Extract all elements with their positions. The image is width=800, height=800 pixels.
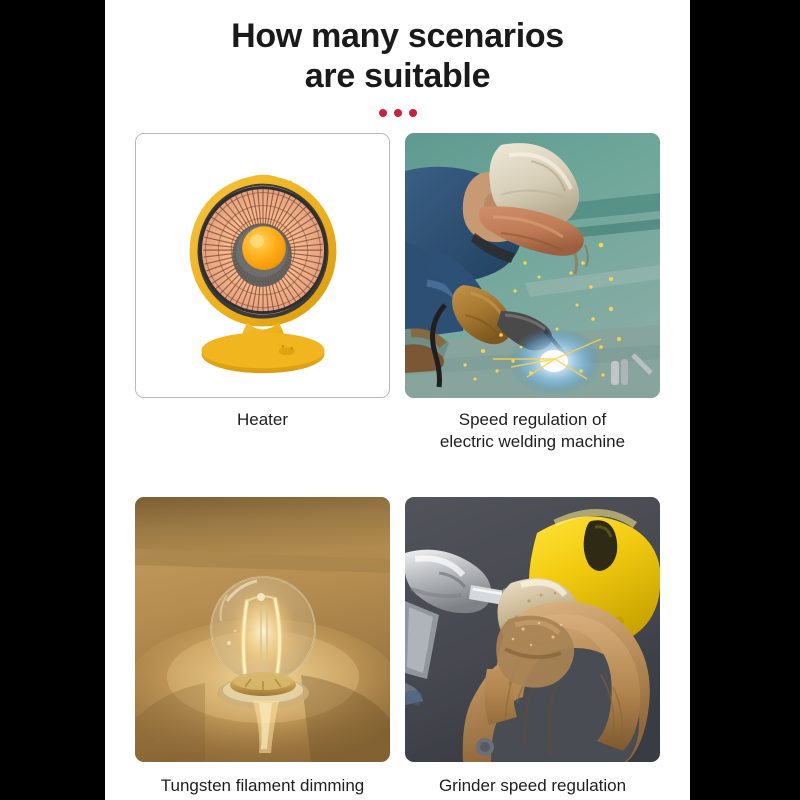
caption-line-1: Tungsten filament dimming — [135, 775, 390, 797]
scenario-caption-heater: Heater — [135, 398, 390, 444]
electric-welding-photo — [405, 133, 660, 398]
scenario-image-card-grinder[interactable] — [405, 497, 660, 762]
scenario-cell-welding[interactable]: Speed regulation of electric welding mac… — [405, 133, 660, 455]
separator-dot — [394, 109, 402, 117]
tungsten-filament-bulb-photo — [135, 497, 390, 762]
scenario-image-card-heater[interactable] — [135, 133, 390, 398]
page-title-line-2: are suitable — [163, 56, 633, 96]
grinder-speed-photo — [405, 497, 660, 762]
halogen-heater-photo — [136, 134, 389, 397]
scenario-caption-welding: Speed regulation of electric welding mac… — [405, 398, 660, 455]
scenario-caption-bulb: Tungsten filament dimming — [135, 762, 390, 800]
content-panel: How many scenarios are suitable — [105, 0, 690, 800]
separator-dot — [379, 109, 387, 117]
caption-line-1: Speed regulation of — [405, 409, 660, 431]
page-title-line-1: How many scenarios — [163, 16, 633, 56]
caption-line-1: Grinder speed regulation — [405, 775, 660, 797]
separator-dots — [105, 109, 690, 117]
scenario-grid-row-2: Tungsten filament dimming — [105, 471, 690, 800]
scenario-image-card-bulb[interactable] — [135, 497, 390, 762]
scenario-cell-heater[interactable]: Heater — [135, 133, 390, 455]
page-title: How many scenarios are suitable — [163, 16, 633, 96]
scenario-image-card-welding[interactable] — [405, 133, 660, 398]
caption-line-2: electric welding machine — [405, 431, 660, 453]
scenario-cell-bulb[interactable]: Tungsten filament dimming — [135, 497, 390, 800]
scenario-grid-row-1: Heater — [105, 133, 690, 455]
scenario-caption-grinder: Grinder speed regulation — [405, 762, 660, 800]
caption-line-1: Heater — [135, 409, 390, 431]
scenario-cell-grinder[interactable]: Grinder speed regulation — [405, 497, 660, 800]
separator-dot — [409, 109, 417, 117]
page-root: How many scenarios are suitable — [0, 0, 800, 800]
page-header: How many scenarios are suitable — [105, 0, 690, 117]
